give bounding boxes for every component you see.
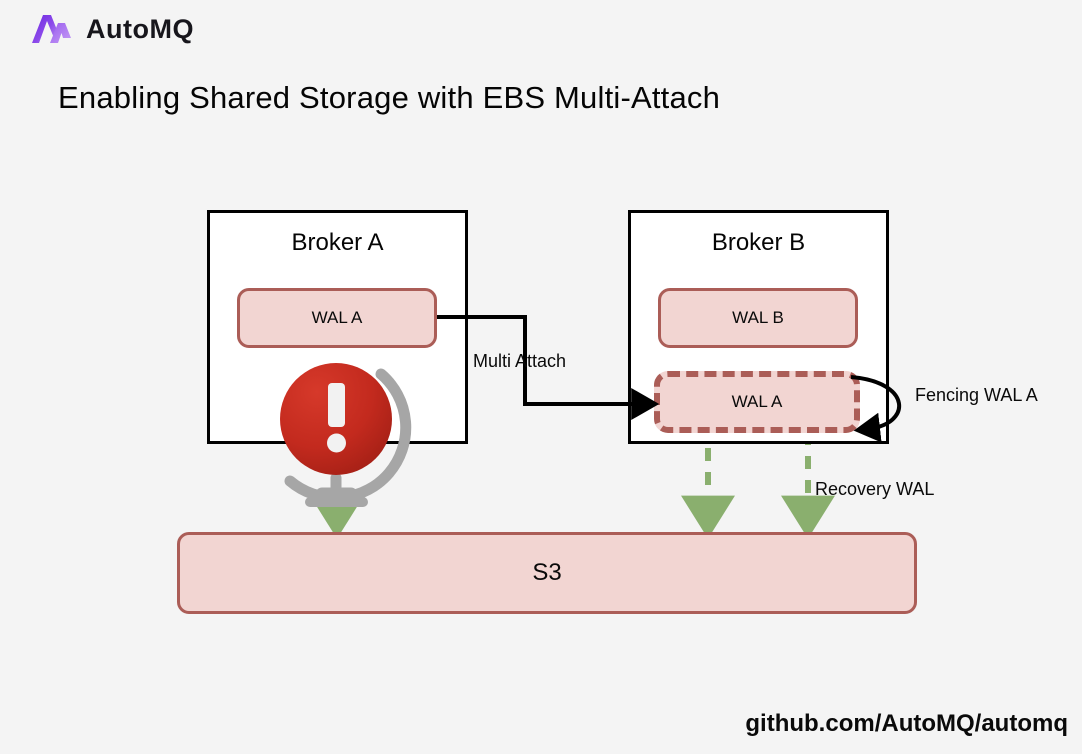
- s3-node: S3: [177, 532, 917, 614]
- wal-b-label: WAL B: [732, 308, 784, 328]
- architecture-diagram: Broker A WAL A Broker B WAL B WAL A: [0, 0, 1082, 754]
- wal-a-replica-node: WAL A: [654, 371, 860, 433]
- wal-a-node: WAL A: [237, 288, 437, 348]
- green-arrow-layer: [0, 0, 1082, 754]
- wal-b-node: WAL B: [658, 288, 858, 348]
- broker-a-status-layer: [0, 0, 1082, 754]
- edge-label-recovery: Recovery WAL: [815, 479, 934, 500]
- s3-label: S3: [532, 559, 561, 587]
- broker-b-title: Broker B: [631, 229, 886, 257]
- edge-label-fencing: Fencing WAL A: [915, 385, 1038, 406]
- wal-a-replica-label: WAL A: [732, 392, 783, 412]
- wal-a-label: WAL A: [312, 308, 363, 328]
- github-link[interactable]: github.com/AutoMQ/automq: [745, 710, 1068, 738]
- black-arrow-layer: [0, 0, 1082, 754]
- edge-label-multi-attach: Multi Attach: [473, 351, 566, 372]
- broker-a-title: Broker A: [210, 229, 465, 257]
